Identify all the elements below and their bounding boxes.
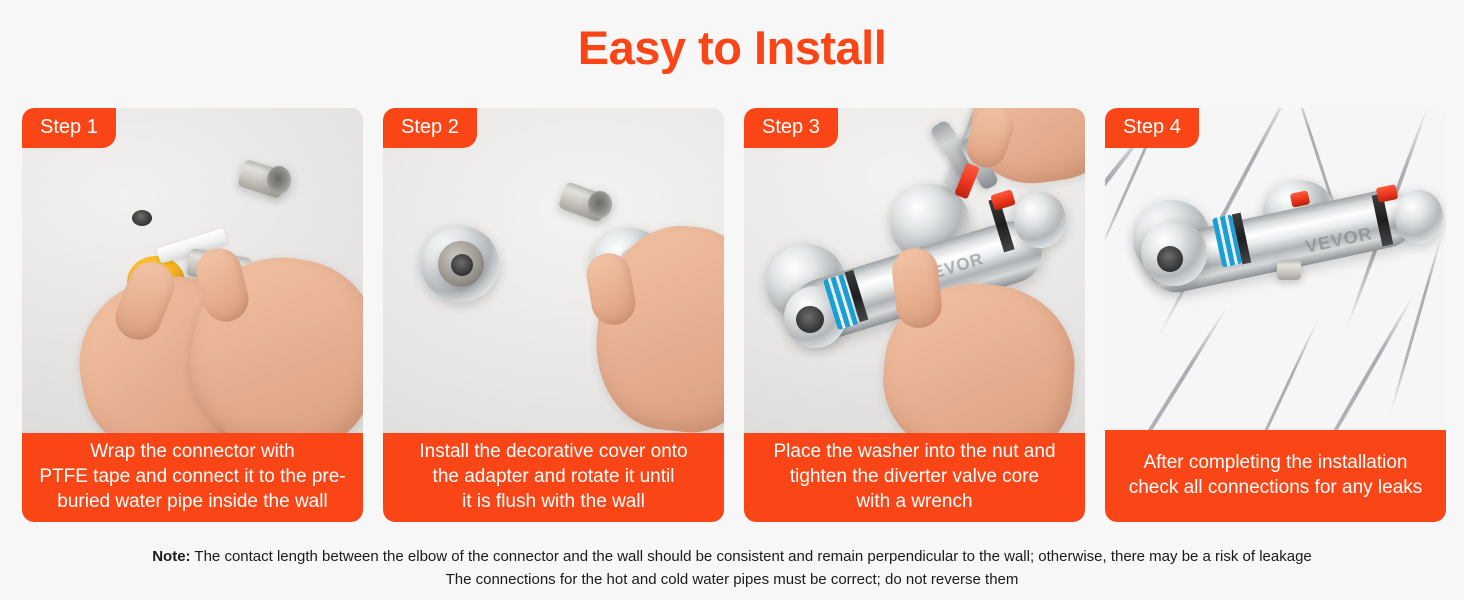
step-card-2[interactable]: Step 2 Install the decorative cover onto… xyxy=(383,108,724,522)
note-text-1: The contact length between the elbow of … xyxy=(191,548,1312,565)
step-caption-1: Wrap the connector with PTFE tape and co… xyxy=(22,433,363,522)
caption-line: Wrap the connector with xyxy=(39,439,345,464)
caption-line: PTFE tape and connect it to the pre- xyxy=(39,464,345,489)
step-4-photo: VEVOR xyxy=(1105,108,1446,448)
flow-handle-icon xyxy=(1395,190,1443,244)
caption-line: with a wrench xyxy=(773,489,1055,514)
page-title: Easy to Install xyxy=(0,22,1464,74)
caption-line: tighten the diverter valve core xyxy=(773,464,1055,489)
step-caption-4: After completing the installation check … xyxy=(1105,430,1446,522)
caption-line: After completing the installation xyxy=(1129,450,1423,475)
marble-vein xyxy=(1298,292,1416,448)
note-line-2: The connections for the hot and cold wat… xyxy=(0,569,1464,592)
step-card-3[interactable]: VEVOR Step 3 Place the washer into the n… xyxy=(744,108,1085,522)
caption-line: it is flush with the wall xyxy=(419,489,687,514)
handle-center-icon xyxy=(1157,246,1183,272)
step-3-photo: VEVOR xyxy=(744,108,1085,448)
flow-handle-icon xyxy=(1014,192,1066,248)
caption-line: buried water pipe inside the wall xyxy=(39,489,345,514)
steps-row: Step 1 Wrap the connector with PTFE tape… xyxy=(22,108,1442,522)
note-label: Note: xyxy=(152,548,190,565)
caption-line: Place the washer into the nut and xyxy=(773,439,1055,464)
step-badge-1: Step 1 xyxy=(22,108,116,148)
step-caption-2: Install the decorative cover onto the ad… xyxy=(383,433,724,522)
step-card-4[interactable]: VEVOR Step 4 After completing the instal… xyxy=(1105,108,1446,522)
step-card-1[interactable]: Step 1 Wrap the connector with PTFE tape… xyxy=(22,108,363,522)
pipe-opening-icon xyxy=(267,166,291,194)
caption-line: check all connections for any leaks xyxy=(1129,475,1423,500)
step-2-photo xyxy=(383,108,724,448)
outlet-connector-icon xyxy=(1277,260,1301,280)
step-1-photo xyxy=(22,108,363,448)
adapter-bore-icon xyxy=(451,254,473,276)
pipe-opening-icon xyxy=(588,191,612,218)
step-badge-3: Step 3 xyxy=(744,108,838,148)
step-badge-2: Step 2 xyxy=(383,108,477,148)
wall-hole-icon xyxy=(132,210,152,226)
step-caption-3: Place the washer into the nut and tighte… xyxy=(744,433,1085,522)
marble-vein xyxy=(1233,317,1320,448)
marble-vein xyxy=(1105,304,1230,448)
note-line-1: Note: The contact length between the elb… xyxy=(0,546,1464,569)
step-badge-4: Step 4 xyxy=(1105,108,1199,148)
note-block: Note: The contact length between the elb… xyxy=(0,546,1464,591)
handle-center-icon xyxy=(796,306,824,333)
caption-line: Install the decorative cover onto xyxy=(419,439,687,464)
caption-line: the adapter and rotate it until xyxy=(419,464,687,489)
